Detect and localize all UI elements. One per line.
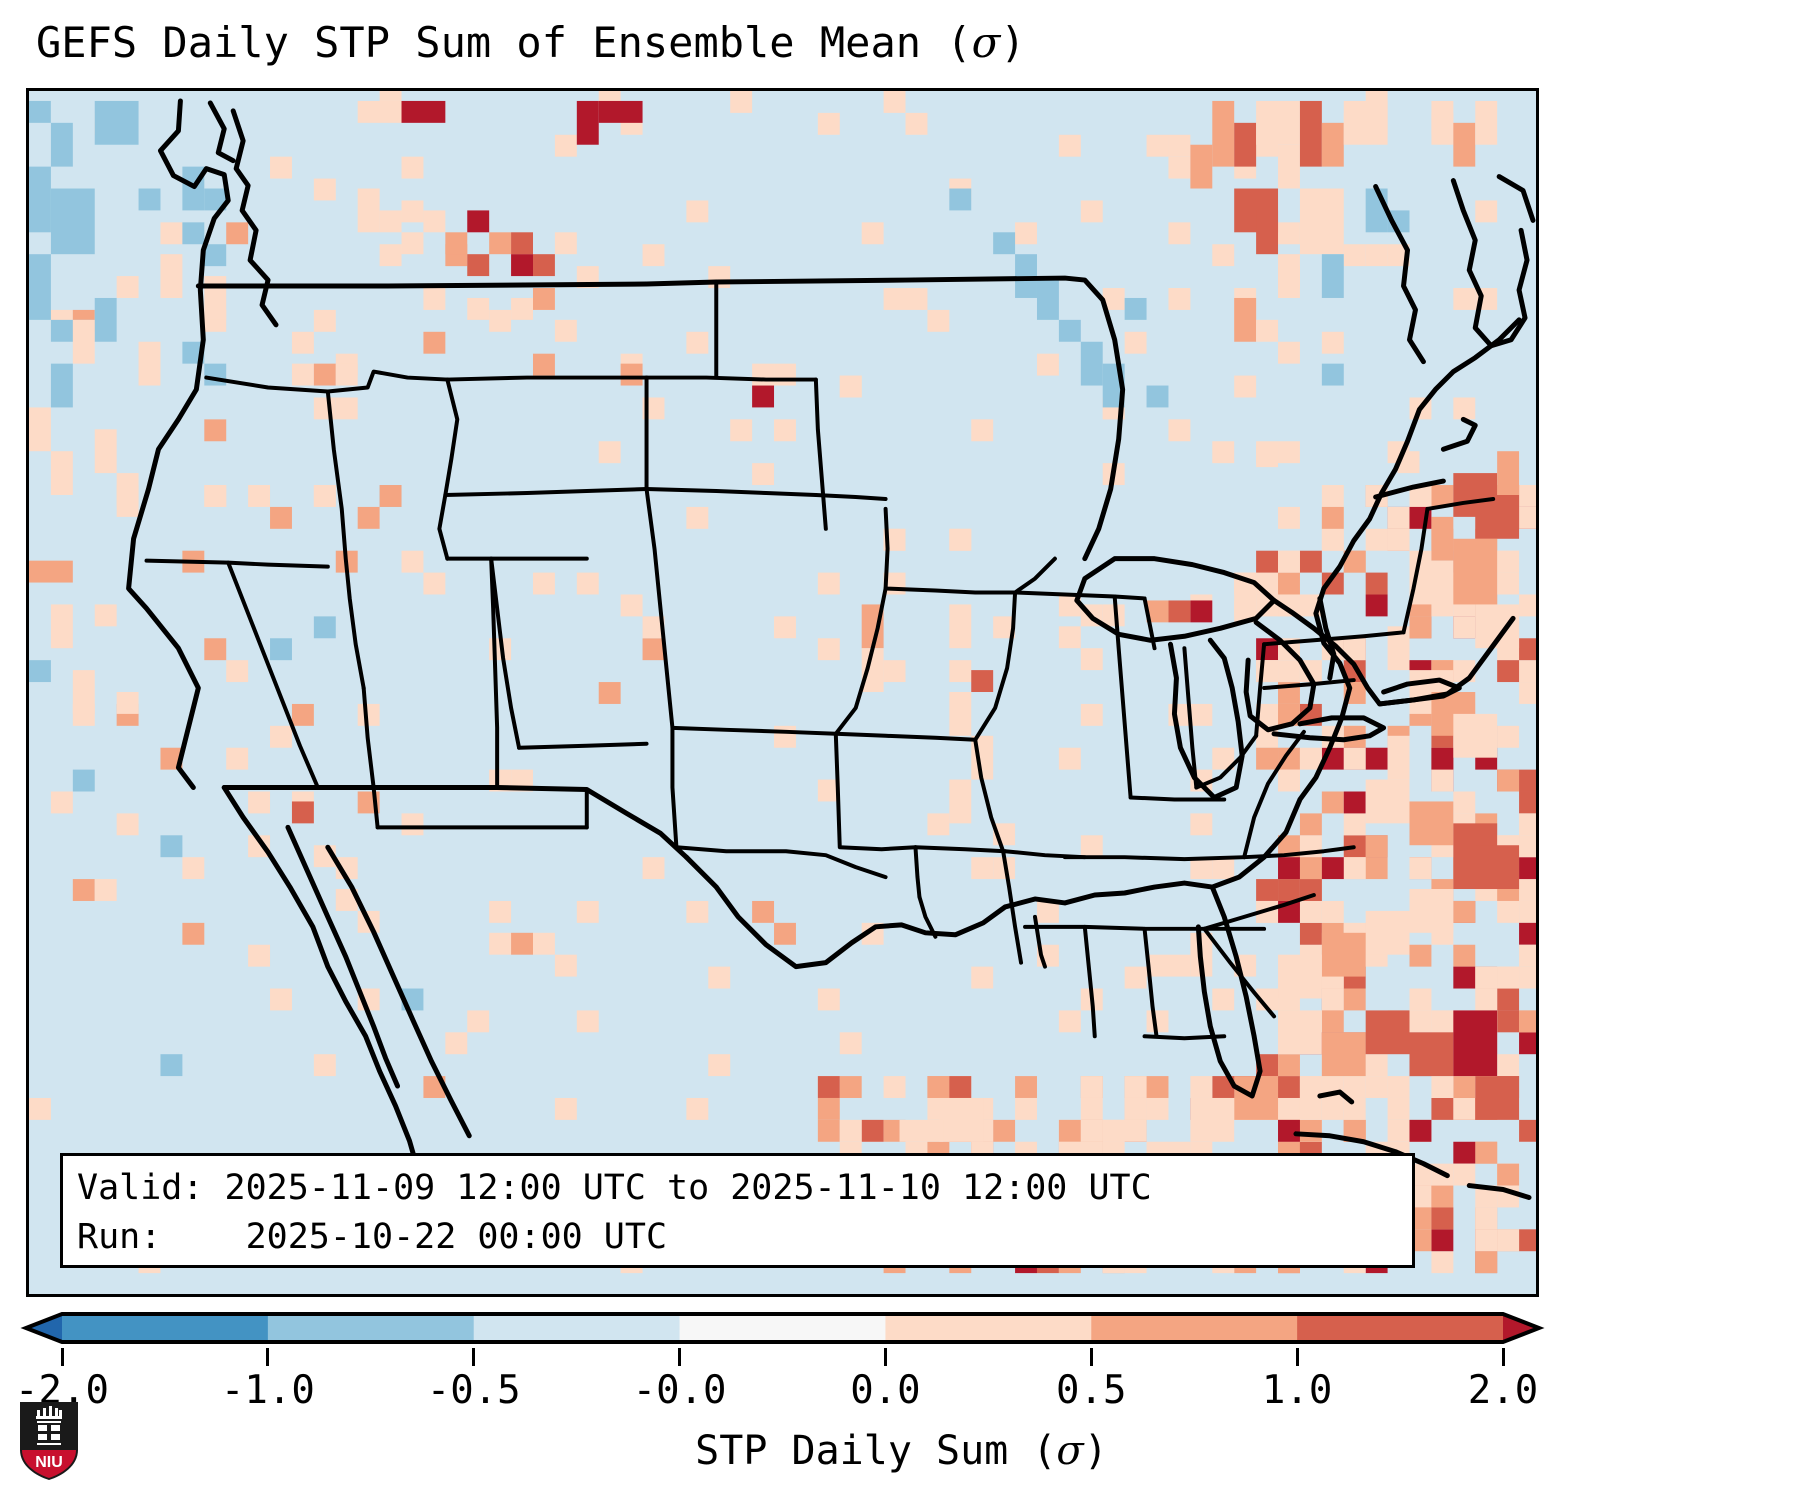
grid-cell: [555, 135, 577, 157]
grid-cell: [402, 200, 424, 222]
grid-cell: [1366, 529, 1388, 551]
grid-cell: [1519, 792, 1536, 814]
colorbar-tick: [678, 1348, 681, 1366]
colorbar-tick: [1296, 1348, 1299, 1366]
colorbar-segment: [268, 1314, 474, 1342]
grid-cell: [1475, 1251, 1497, 1273]
border-ky-tn: [1065, 857, 1244, 859]
grid-cell: [1453, 901, 1475, 923]
grid-cell: [1015, 1098, 1037, 1120]
grid-cell: [314, 364, 336, 386]
grid-cell: [686, 332, 708, 354]
grid-cell: [1300, 857, 1322, 879]
grid-cell: [1190, 1076, 1212, 1098]
grid-cell: [1278, 660, 1300, 682]
grid-cell: [1081, 342, 1103, 386]
grid-cell: [971, 967, 993, 989]
grid-cell: [511, 232, 533, 254]
grid-cell: [621, 364, 643, 386]
grid-cell: [599, 441, 621, 463]
grid-cell: [1278, 573, 1300, 595]
grid-cell: [1344, 1076, 1366, 1098]
grid-cell: [1168, 222, 1190, 244]
map-canvas[interactable]: [29, 91, 1536, 1294]
grid-cell: [1256, 879, 1278, 901]
border-sd-mn: [816, 495, 886, 499]
grid-cell: [533, 933, 555, 955]
grid-cell: [1322, 485, 1344, 507]
grid-cell: [160, 222, 182, 244]
grid-cell: [1278, 1076, 1300, 1098]
colorbar-title: STP Daily Sum (σ): [0, 1428, 1803, 1474]
colorbar-tick: [1502, 1348, 1505, 1366]
grid-cell: [1278, 551, 1300, 573]
grid-cell: [1212, 857, 1234, 879]
grid-cell: [1168, 704, 1190, 726]
grid-cell: [927, 813, 949, 835]
grid-cell: [1147, 1076, 1169, 1098]
grid-cell: [1190, 600, 1212, 622]
grid-cell: [818, 573, 840, 595]
grid-cell: [1475, 989, 1497, 1011]
border-co-nm: [519, 744, 646, 748]
grid-cell: [818, 1120, 840, 1142]
grid-cell: [1278, 1054, 1300, 1076]
grid-cell: [840, 1120, 862, 1142]
grid-cell: [1059, 320, 1081, 342]
grid-cell: [1519, 507, 1536, 529]
grid-cell: [1059, 1010, 1081, 1032]
grid-cell: [1497, 726, 1519, 748]
grid-cell: [730, 91, 752, 113]
colorbar-tick-label: 1.0: [1262, 1368, 1332, 1413]
info-run-line: Run: 2025-10-22 00:00 UTC: [77, 1213, 1398, 1262]
grid-cell: [160, 835, 182, 857]
border-mn-wi: [1015, 559, 1055, 593]
grid-cell: [1497, 967, 1519, 989]
grid-cell: [489, 232, 511, 254]
grid-cell: [358, 704, 380, 726]
grid-cell: [949, 780, 971, 824]
grid-cell: [686, 507, 708, 529]
grid-cell: [1519, 485, 1536, 507]
grid-cell: [906, 113, 928, 135]
grid-cell: [1125, 298, 1147, 320]
colorbar-tick: [266, 1348, 269, 1366]
grid-cell: [1278, 955, 1322, 999]
grid-cell: [1234, 376, 1256, 398]
grid-cell: [204, 276, 226, 320]
colorbar-segment: [885, 1314, 1091, 1342]
grid-cell: [1037, 276, 1059, 320]
grid-cell: [1278, 1120, 1300, 1142]
grid-cell: [1322, 1098, 1344, 1120]
grid-cell: [1278, 770, 1300, 792]
grid-cell: [1147, 955, 1191, 977]
grid-cell: [1431, 517, 1453, 561]
weather-map-figure: GEFS Daily STP Sum of Ensemble Mean (σ): [0, 0, 1803, 1506]
grid-cell: [1453, 714, 1497, 758]
grid-cell: [1519, 835, 1536, 857]
grid-cell: [204, 244, 226, 266]
border-mo-ar: [915, 847, 1005, 851]
grid-cell: [292, 332, 314, 354]
grid-cell: [1519, 813, 1536, 835]
grid-cell: [1453, 1142, 1475, 1164]
grid-cell: [949, 604, 971, 648]
grid-cell: [270, 989, 292, 1011]
coastline-newfoundland: [1499, 177, 1533, 221]
grid-cell: [1431, 1207, 1453, 1229]
grid-cell: [927, 1076, 949, 1098]
niu-logo: NIU: [18, 1400, 80, 1482]
colorbar-segment: [1091, 1314, 1297, 1342]
border-ne-ks: [672, 728, 835, 734]
border-il-in: [1115, 596, 1131, 797]
grid-cell: [1453, 123, 1475, 167]
grid-cell: [840, 376, 862, 398]
grid-cell: [314, 616, 336, 638]
grid-cell: [1059, 1120, 1081, 1142]
grid-cell: [358, 189, 380, 233]
grid-cell: [577, 901, 599, 923]
border-id-west: [328, 392, 364, 689]
grid-cell: [1059, 748, 1081, 770]
grid-cell: [117, 813, 139, 835]
colorbar-tick-label: -0.5: [427, 1368, 521, 1413]
colorbar-tick-label: 0.0: [850, 1368, 920, 1413]
grid-cell: [1256, 101, 1300, 145]
colorbar-canvas[interactable]: [26, 1302, 1539, 1354]
grid-cell: [1519, 901, 1536, 923]
grid-cell: [1037, 354, 1059, 376]
border-or-ca: [147, 561, 328, 567]
grid-cell: [643, 244, 665, 266]
grid-cell: [1388, 1076, 1410, 1098]
grid-cell: [1453, 616, 1475, 638]
title-text-before: GEFS Daily STP Sum of Ensemble Mean (: [36, 18, 972, 67]
grid-cell: [555, 955, 577, 977]
grid-cell: [117, 473, 139, 517]
grid-cell: [29, 407, 51, 451]
colorbar-tick: [884, 1348, 887, 1366]
grid-cell: [95, 604, 117, 626]
border-mt-id: [439, 380, 457, 559]
grid-cell: [1410, 1032, 1454, 1076]
grid-cell: [248, 485, 270, 507]
grid-cell: [1388, 529, 1410, 551]
grid-cell: [1322, 507, 1344, 529]
grid-cell: [182, 222, 204, 244]
colorbar-segment: [1297, 1314, 1503, 1342]
grid-cell: [1322, 332, 1344, 354]
grid-cell: [160, 254, 182, 298]
grid-cell: [533, 573, 555, 595]
grid-cell: [884, 288, 906, 310]
grid-cell: [533, 288, 555, 310]
grid-cell: [1103, 1120, 1147, 1142]
coastline-cape-cod: [1443, 419, 1475, 449]
grid-cell: [1081, 1120, 1103, 1142]
grid-cell: [1453, 945, 1475, 967]
grid-cell: [1453, 1010, 1497, 1076]
grid-cell: [1410, 1120, 1432, 1142]
grid-cell: [1388, 507, 1410, 529]
grid-cell: [139, 342, 161, 386]
border-ia-il: [975, 592, 1015, 739]
grid-cell: [555, 1098, 577, 1120]
grid-cell: [1366, 835, 1388, 857]
grid-cell: [708, 266, 730, 288]
grid-cell: [1519, 1229, 1536, 1251]
grid-cell: [1212, 989, 1234, 1011]
grid-cell: [380, 91, 402, 101]
grid-cell: [1497, 1054, 1519, 1076]
grid-cell: [380, 210, 402, 232]
colorbar-tick-label: 0.5: [1056, 1368, 1126, 1413]
grid-cell: [708, 1054, 730, 1076]
grid-cell: [29, 167, 51, 233]
grid-cell: [1212, 244, 1234, 266]
grid-cell: [314, 397, 336, 419]
grid-cell: [1366, 1010, 1410, 1054]
grid-cell: [949, 189, 971, 211]
page-title: GEFS Daily STP Sum of Ensemble Mean (σ): [36, 18, 1026, 67]
grid-cell: [380, 244, 402, 266]
grid-cell: [1256, 210, 1278, 254]
grid-cell: [270, 638, 292, 660]
grid-cell: [1278, 857, 1300, 879]
grid-cell: [949, 692, 971, 736]
grid-cell: [1168, 600, 1190, 622]
grid-cell: [1190, 813, 1212, 835]
grid-cell: [577, 573, 599, 595]
grid-cell: [1431, 1076, 1453, 1098]
grid-cell: [29, 254, 51, 320]
grid-cell: [1059, 626, 1081, 648]
border-mo-ks: [836, 734, 916, 849]
grid-cell: [1453, 539, 1497, 605]
grid-cell: [1322, 254, 1344, 298]
border-ms-al: [1085, 927, 1095, 1036]
grid-cell: [1388, 1098, 1410, 1120]
grid-cell: [1278, 507, 1300, 529]
grid-cell: [51, 101, 95, 123]
grid-cell: [1519, 770, 1536, 792]
grid-cell: [686, 901, 708, 923]
grid-cell: [1278, 145, 1300, 189]
colorbar-tick-label: 2.0: [1468, 1368, 1538, 1413]
grid-cell: [1300, 189, 1344, 255]
grid-cell: [752, 463, 774, 485]
border-nd-mn: [816, 380, 826, 529]
grid-cell: [774, 364, 796, 386]
grid-cell: [1344, 244, 1366, 266]
grid-cell: [1519, 1120, 1536, 1142]
grid-cell: [1322, 792, 1344, 814]
grid-cell: [489, 901, 511, 923]
grid-cell: [1410, 889, 1454, 933]
grid-cell: [1431, 1229, 1453, 1251]
border-il-ky: [1131, 797, 1225, 799]
grid-cell: [1475, 101, 1497, 145]
grid-cell: [1147, 1098, 1169, 1120]
grid-cell: [1497, 573, 1519, 595]
grid-cell: [1256, 748, 1278, 770]
grid-cell: [467, 210, 489, 232]
grid-cell: [774, 419, 796, 441]
grid-cell: [51, 123, 73, 167]
grid-cell: [1344, 101, 1388, 145]
grid-cell: [489, 310, 511, 332]
grid-cell: [1168, 157, 1190, 179]
grid-cell: [511, 254, 533, 276]
grid-cell: [884, 1076, 906, 1098]
grid-cell: [971, 670, 993, 692]
grid-cell: [949, 529, 971, 551]
border-wy-co: [445, 489, 646, 495]
grid-cell: [182, 923, 204, 945]
grid-cell: [1497, 901, 1519, 923]
grid-cell: [774, 923, 796, 945]
border-ok-ar: [915, 847, 919, 897]
grid-cell: [1366, 244, 1388, 266]
grid-cell: [1081, 1076, 1103, 1098]
grid-cell: [1300, 1098, 1322, 1120]
grid-cell: [402, 551, 424, 573]
grid-cell: [292, 704, 314, 726]
grid-cell: [1081, 200, 1103, 222]
border-co-ks: [647, 489, 673, 728]
grid-cell: [818, 1098, 840, 1120]
grid-cell: [1322, 901, 1344, 923]
grid-cell: [1278, 1098, 1300, 1120]
grid-cell: [117, 276, 139, 298]
border-ne-ia: [836, 509, 888, 734]
grid-cell: [1431, 1010, 1453, 1032]
grid-cell: [1519, 879, 1536, 901]
grid-cell: [95, 101, 139, 145]
colorbar-segment: [62, 1314, 268, 1342]
colorbar[interactable]: [26, 1302, 1539, 1354]
grid-cell: [555, 320, 577, 342]
grid-cell: [1322, 933, 1366, 977]
grid-cell: [643, 857, 665, 879]
grid-cell: [884, 91, 906, 113]
grid-cell: [1453, 1164, 1475, 1186]
grid-cell: [1453, 792, 1475, 814]
grid-cell: [1366, 573, 1388, 595]
grid-cell: [1300, 923, 1322, 945]
grid-cell: [949, 1076, 971, 1098]
grid-cell: [1322, 364, 1344, 386]
border-ok-tx: [676, 847, 885, 877]
grid-cell: [1037, 901, 1059, 923]
grid-cell: [840, 1032, 862, 1054]
grid-cell: [1410, 801, 1454, 845]
grid-cell: [1278, 1010, 1322, 1054]
grid-cell: [818, 1076, 840, 1098]
grid-cell: [117, 692, 139, 714]
grid-cell: [292, 801, 314, 823]
grid-cell: [204, 638, 226, 660]
grid-cell: [467, 298, 489, 320]
grid-cell: [29, 101, 51, 123]
grid-cell: [555, 232, 577, 254]
grid-cell: [358, 507, 380, 529]
grid-cell: [248, 792, 270, 814]
map-panel[interactable]: Valid: 2025-11-09 12:00 UTC to 2025-11-1…: [26, 88, 1539, 1297]
grid-cell: [1190, 145, 1212, 189]
grid-cell: [900, 1120, 944, 1142]
grid-cell: [1366, 1054, 1388, 1076]
grid-cell: [1410, 945, 1432, 967]
grid-cell: [314, 179, 336, 201]
grid-cell: [1322, 1032, 1366, 1076]
grid-cell: [1256, 551, 1278, 573]
grid-cell: [1256, 445, 1278, 467]
grid-cell: [51, 189, 95, 255]
grid-cell: [1125, 332, 1147, 354]
grid-cell: [1366, 748, 1388, 770]
grid-cell: [939, 1098, 983, 1142]
grid-cell: [1300, 101, 1322, 167]
grid-cell: [29, 1098, 51, 1120]
colorbar-segment: [680, 1314, 886, 1342]
grid-cell: [1431, 1186, 1453, 1208]
grid-cell: [182, 857, 204, 879]
grid-cell: [1212, 441, 1234, 463]
grid-cell: [1388, 736, 1410, 780]
grid-cell: [1475, 845, 1519, 889]
grid-cell: [423, 210, 445, 232]
grid-cell: [1497, 660, 1519, 682]
grid-cell: [1497, 989, 1519, 1011]
grid-cell: [445, 232, 467, 254]
border-mt-wy: [447, 378, 646, 380]
grid-cell: [752, 364, 774, 386]
grid-cell: [949, 660, 971, 682]
grid-cell: [1366, 1076, 1388, 1098]
grid-cell: [577, 1010, 599, 1032]
grid-cell: [1344, 813, 1366, 835]
grid-cell: [314, 485, 336, 507]
grid-cell: [423, 573, 445, 595]
title-text-after: ): [1000, 18, 1025, 67]
grid-cell: [621, 594, 643, 616]
grid-cell: [1475, 1142, 1497, 1164]
grid-cell: [1278, 342, 1300, 364]
grid-cell: [1453, 288, 1475, 310]
grid-cell: [1519, 638, 1536, 660]
grid-cell: [686, 200, 708, 222]
grid-cell: [774, 726, 796, 748]
grid-cell: [1366, 857, 1388, 879]
grid-cell: [511, 933, 533, 955]
grid-cell: [204, 419, 226, 441]
grid-cell: [1278, 879, 1300, 901]
grid-cell: [1519, 923, 1536, 945]
grid-cell: [1015, 1076, 1037, 1098]
grid-cell: [1147, 135, 1169, 157]
grid-cell: [1475, 967, 1497, 989]
grid-cell: [1497, 770, 1519, 792]
grid-cell: [1475, 1229, 1497, 1251]
grid-cell: [993, 1120, 1015, 1142]
grid-cell: [1125, 1098, 1147, 1120]
grid-cell: [862, 222, 884, 244]
grid-cell: [1168, 419, 1190, 441]
